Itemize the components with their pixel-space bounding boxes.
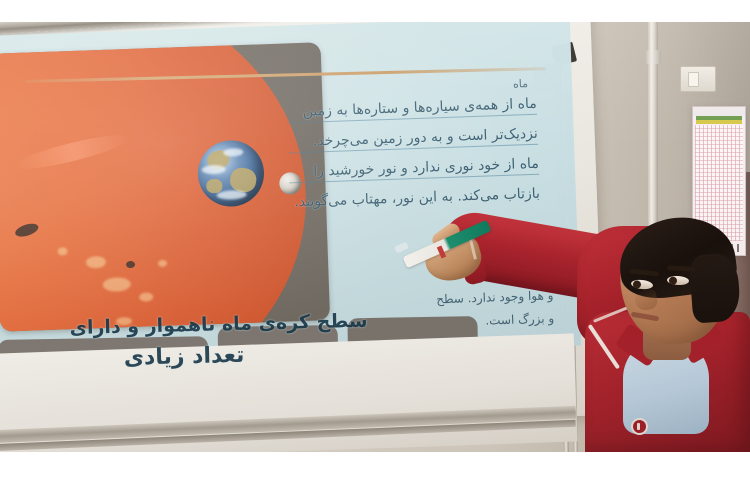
earth-cloud — [217, 190, 247, 200]
student — [395, 220, 750, 452]
chart-yellow-band — [696, 120, 742, 124]
screenshot-root: ماه ماه از همه‌ی سیاره‌ها و ستاره‌ها به … — [0, 0, 750, 480]
marker-tip — [394, 242, 409, 254]
letterbox-top — [0, 0, 750, 22]
cardigan-emblem — [631, 418, 648, 435]
earth-cloud — [223, 148, 243, 157]
classroom-photo: ماه ماه از همه‌ی سیاره‌ها و ستاره‌ها به … — [0, 22, 750, 452]
slide-title: ماه — [286, 77, 528, 98]
student-pupil — [669, 277, 677, 285]
student-pupil — [633, 280, 642, 289]
letterbox-bottom — [0, 452, 750, 480]
chart-header — [693, 107, 745, 116]
earth-cloud — [202, 165, 226, 175]
wall-switch-box — [680, 66, 716, 92]
slide-body-line: نزدیک‌تر است و به دور زمین می‌چرخد. — [288, 127, 538, 154]
slide-body-line: بازتاب می‌کند. به این نور، مهتاب می‌گوین… — [290, 187, 540, 213]
slide-overlay-caption: سطح کره‌ی ماه ناهموار و دارای تعداد زیاد… — [0, 311, 395, 373]
student-eye — [667, 275, 689, 285]
slide-body-line: ماه از همه‌ی سیاره‌ها و ستاره‌ها به زمین — [287, 97, 537, 124]
slide-body-line: ماه از خود نوری ندارد و نور خورشید را — [289, 157, 539, 184]
sun-image — [0, 42, 313, 331]
slide-text-block: ماه ماه از همه‌ی سیاره‌ها و ستاره‌ها به … — [286, 77, 541, 225]
pipe-joint — [645, 50, 661, 64]
